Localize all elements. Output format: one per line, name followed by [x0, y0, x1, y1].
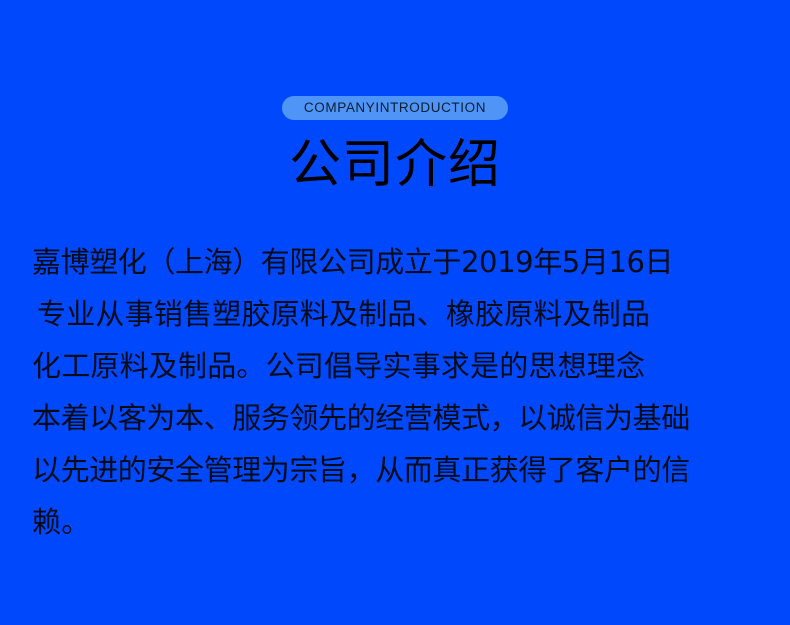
description-line-3: 化工原料及制品。公司倡导实事求是的思想理念 — [32, 340, 760, 392]
description-line-6: 赖。 — [32, 496, 760, 548]
description-line-2: 专业从事销售塑胶原料及制品、橡胶原料及制品 — [32, 288, 760, 340]
section-eyebrow-badge: COMPANYINTRODUCTION — [282, 96, 508, 120]
description-line-1: 嘉博塑化（上海）有限公司成立于2019年5月16日 — [32, 236, 760, 288]
company-introduction-banner: COMPANYINTRODUCTION 公司介绍 嘉博塑化（上海）有限公司成立于… — [0, 0, 790, 625]
description-line-5: 以先进的安全管理为宗旨，从而真正获得了客户的信 — [32, 444, 760, 496]
badge-row: COMPANYINTRODUCTION — [0, 96, 790, 120]
company-description: 嘉博塑化（上海）有限公司成立于2019年5月16日 专业从事销售塑胶原料及制品、… — [32, 236, 760, 548]
page-title: 公司介绍 — [0, 137, 790, 193]
banner-header: COMPANYINTRODUCTION 公司介绍 — [0, 0, 790, 193]
description-line-4: 本着以客为本、服务领先的经营模式，以诚信为基础 — [32, 392, 760, 444]
